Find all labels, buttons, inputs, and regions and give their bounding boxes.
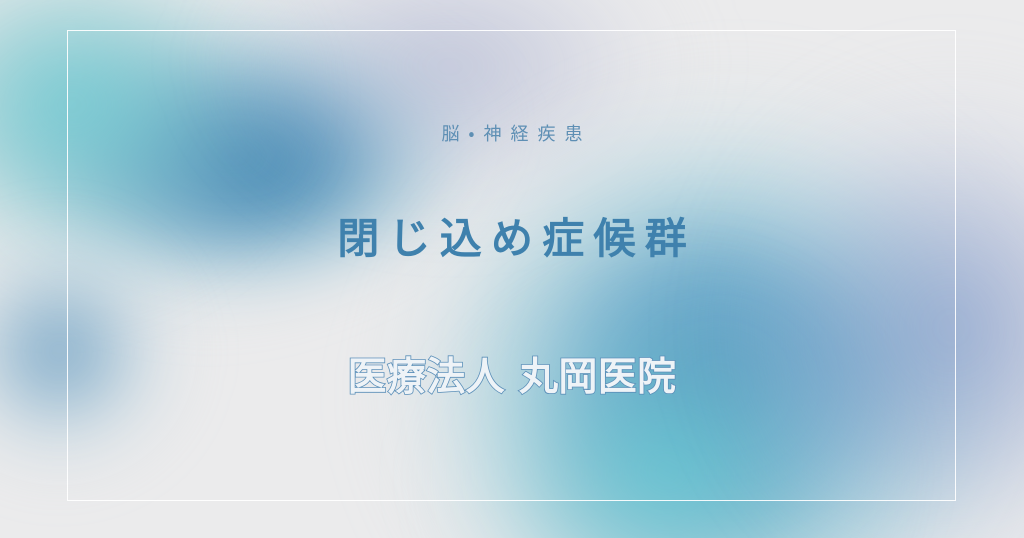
- page-title: 閉じ込め症候群: [328, 218, 696, 260]
- category-eyebrow: 脳・神経疾患: [432, 126, 591, 144]
- hero-banner: 脳・神経疾患 閉じ込め症候群 医療法人 丸岡医院: [0, 0, 1024, 538]
- organization-name: 医療法人 丸岡医院: [347, 358, 676, 397]
- hero-content: 脳・神経疾患 閉じ込め症候群 医療法人 丸岡医院: [0, 0, 1024, 538]
